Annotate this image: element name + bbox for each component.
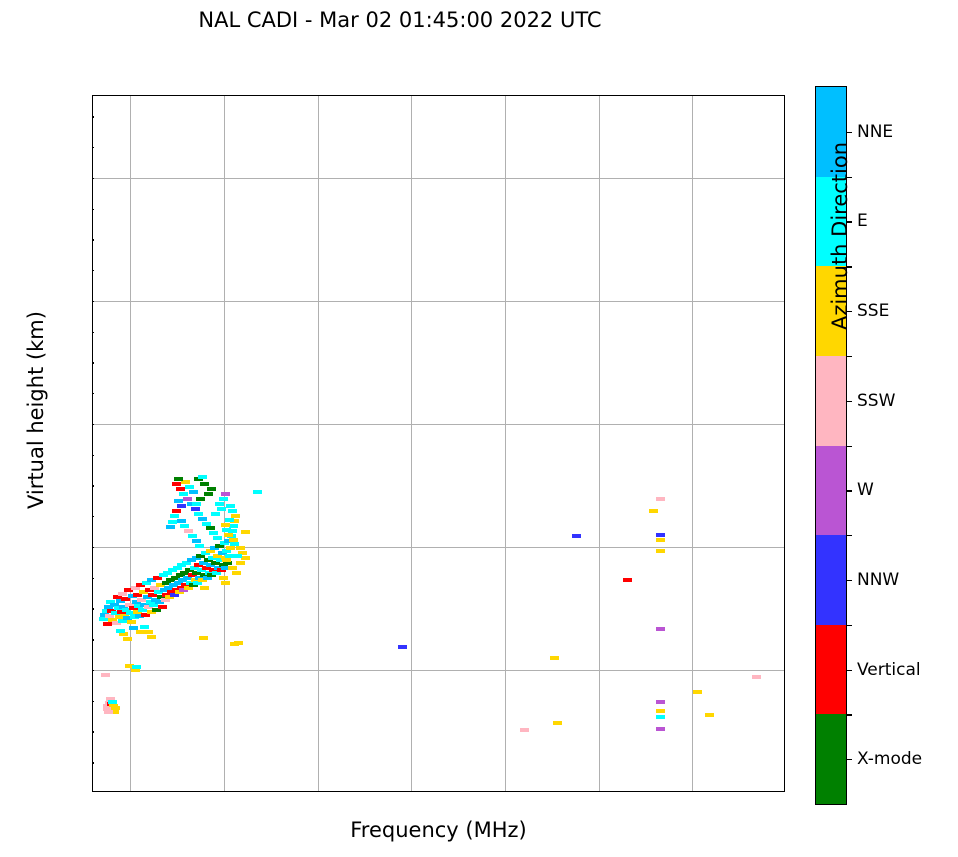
echo-mark	[129, 626, 138, 630]
echo-mark	[140, 625, 149, 629]
echo-mark	[185, 485, 194, 489]
echo-mark	[253, 490, 262, 494]
colorbar-label-nne: NNE	[857, 122, 893, 142]
echo-mark	[183, 497, 192, 501]
echo-mark	[226, 504, 235, 508]
echo-mark	[232, 571, 241, 575]
echo-mark	[228, 566, 237, 570]
y-tick-minor	[92, 147, 94, 148]
gridline-vertical	[318, 96, 319, 791]
y-tick-major	[92, 670, 94, 671]
y-tick-minor	[92, 332, 94, 333]
x-tick-major	[505, 791, 506, 793]
echo-mark	[188, 534, 197, 538]
colorbar-boundary-tick	[846, 714, 852, 715]
x-tick-major	[130, 791, 131, 793]
echo-mark	[204, 492, 213, 496]
echo-mark	[656, 497, 665, 501]
y-tick-major	[92, 301, 94, 302]
y-tick-major	[92, 424, 94, 425]
echo-mark	[103, 622, 112, 626]
echo-mark	[174, 499, 183, 503]
echo-mark	[656, 533, 665, 537]
echo-mark	[172, 509, 181, 513]
echo-mark	[752, 675, 761, 679]
echo-mark	[520, 728, 529, 732]
echo-mark	[221, 492, 230, 496]
x-tick-minor	[458, 791, 459, 793]
echo-mark	[170, 514, 179, 518]
echo-mark	[553, 721, 562, 725]
x-tick-major	[224, 791, 225, 793]
colorbar-segment-w	[816, 446, 846, 536]
echo-mark	[108, 700, 117, 704]
x-tick-minor	[739, 791, 740, 793]
echo-mark	[200, 482, 209, 486]
echo-mark	[198, 475, 207, 479]
echo-mark	[550, 656, 559, 660]
y-tick-minor	[92, 608, 94, 609]
x-tick-major	[411, 791, 412, 793]
echo-mark	[195, 544, 204, 548]
echo-mark	[200, 586, 209, 590]
y-tick-minor	[92, 209, 94, 210]
plot-area: 02004006008001000 246810121416	[92, 95, 785, 792]
echo-mark	[222, 558, 231, 562]
echo-mark	[206, 526, 215, 530]
y-tick-minor	[92, 455, 94, 456]
echo-mark	[233, 554, 242, 558]
echo-mark	[101, 673, 110, 677]
y-tick-minor	[92, 762, 94, 763]
echo-mark	[221, 581, 230, 585]
echo-mark	[111, 706, 120, 710]
chart-title: NAL CADI - Mar 02 01:45:00 2022 UTC	[0, 8, 800, 32]
echo-mark	[705, 713, 714, 717]
y-tick-minor	[92, 239, 94, 240]
gridline-vertical	[224, 96, 225, 791]
echo-mark	[398, 645, 407, 649]
echo-mark	[215, 502, 224, 506]
echo-mark	[656, 538, 665, 542]
colorbar-segment-nnw	[816, 535, 846, 625]
x-tick-minor	[552, 791, 553, 793]
x-tick-major	[599, 791, 600, 793]
echo-mark	[217, 507, 226, 511]
echo-mark	[132, 665, 141, 669]
echo-mark	[572, 534, 581, 538]
colorbar-tick	[846, 670, 852, 671]
x-axis-title: Frequency (MHz)	[92, 818, 785, 842]
echo-mark	[174, 477, 183, 481]
gridline-vertical	[411, 96, 412, 791]
colorbar-title: Azimuth Direction	[828, 26, 852, 446]
colorbar-label-nnw: NNW	[857, 570, 899, 590]
echo-mark	[123, 637, 132, 641]
gridline-vertical	[599, 96, 600, 791]
gridline-horizontal	[93, 670, 784, 671]
echo-mark	[656, 709, 665, 713]
y-axis-title: Virtual height (km)	[24, 260, 48, 560]
echo-mark	[104, 710, 113, 714]
colorbar-label-ssw: SSW	[857, 391, 895, 411]
y-tick-minor	[92, 639, 94, 640]
echo-mark	[127, 620, 136, 624]
colorbar-label-w: W	[857, 480, 874, 500]
echo-mark	[168, 520, 177, 524]
colorbar-label-x-mode: X-mode	[857, 749, 922, 769]
echo-mark	[166, 525, 175, 529]
echo-mark	[118, 592, 127, 596]
echo-mark	[693, 690, 702, 694]
y-tick-minor	[92, 393, 94, 394]
y-tick-minor	[92, 116, 94, 117]
echo-mark	[119, 632, 128, 636]
colorbar-segment-vertical	[816, 625, 846, 715]
colorbar-tick	[846, 580, 852, 581]
colorbar-segment-x-mode	[816, 714, 846, 804]
echo-mark	[236, 546, 245, 550]
echo-mark	[229, 538, 238, 542]
x-tick-minor	[271, 791, 272, 793]
echo-mark	[226, 546, 235, 550]
echo-mark	[656, 727, 665, 731]
y-tick-minor	[92, 270, 94, 271]
y-tick-minor	[92, 485, 94, 486]
echo-mark	[180, 524, 189, 528]
colorbar-label-sse: SSE	[857, 301, 889, 321]
ionogram-figure: NAL CADI - Mar 02 01:45:00 2022 UTC 0200…	[0, 0, 958, 857]
echo-mark	[191, 507, 200, 511]
echo-mark	[234, 641, 243, 645]
x-tick-major	[692, 791, 693, 793]
gridline-vertical	[130, 96, 131, 791]
y-tick-minor	[92, 516, 94, 517]
gridline-horizontal	[93, 178, 784, 179]
echo-mark	[176, 487, 185, 491]
y-tick-minor	[92, 362, 94, 363]
gridline-vertical	[505, 96, 506, 791]
echo-mark	[196, 497, 205, 501]
colorbar-tick	[846, 490, 852, 491]
echo-mark	[198, 517, 207, 521]
gridline-vertical	[692, 96, 693, 791]
echo-mark	[207, 487, 216, 491]
echo-mark	[241, 556, 250, 560]
y-tick-minor	[92, 701, 94, 702]
gridline-horizontal	[93, 424, 784, 425]
echo-mark	[222, 528, 231, 532]
echo-mark	[224, 533, 233, 537]
echo-mark	[184, 529, 193, 533]
echo-mark	[236, 561, 245, 565]
colorbar-label-vertical: Vertical	[857, 660, 921, 680]
echo-mark	[228, 509, 237, 513]
echo-mark	[656, 700, 665, 704]
echo-mark	[199, 636, 208, 640]
colorbar-label-e: E	[857, 211, 868, 231]
echo-mark	[209, 531, 218, 535]
y-tick-major	[92, 178, 94, 179]
echo-mark	[192, 502, 201, 506]
echo-mark	[202, 522, 211, 526]
y-tick-major	[92, 547, 94, 548]
echo-mark	[189, 490, 198, 494]
echo-mark	[136, 630, 145, 634]
echo-mark	[179, 492, 188, 496]
echo-mark	[177, 504, 186, 508]
echo-mark	[213, 536, 222, 540]
echo-mark	[241, 530, 250, 534]
echo-mark	[656, 715, 665, 719]
echo-mark	[116, 629, 125, 633]
echo-mark	[158, 605, 167, 609]
echo-mark	[172, 482, 181, 486]
echo-mark	[192, 539, 201, 543]
y-tick-minor	[92, 578, 94, 579]
echo-mark	[211, 512, 220, 516]
colorbar-tick	[846, 759, 852, 760]
echo-mark	[623, 578, 632, 582]
echo-mark	[225, 518, 234, 522]
colorbar-boundary-tick	[846, 625, 852, 626]
echo-mark	[656, 549, 665, 553]
x-tick-minor	[646, 791, 647, 793]
echo-mark	[649, 509, 658, 513]
echo-mark	[219, 497, 228, 501]
echo-mark	[177, 519, 186, 523]
colorbar-boundary-tick	[846, 535, 852, 536]
echo-mark	[656, 627, 665, 631]
x-tick-major	[318, 791, 319, 793]
x-tick-minor	[177, 791, 178, 793]
echo-mark	[219, 576, 228, 580]
x-tick-minor	[365, 791, 366, 793]
gridline-horizontal	[93, 301, 784, 302]
y-tick-minor	[92, 731, 94, 732]
echo-mark	[221, 523, 230, 527]
echo-mark	[147, 635, 156, 639]
echo-mark	[194, 512, 203, 516]
